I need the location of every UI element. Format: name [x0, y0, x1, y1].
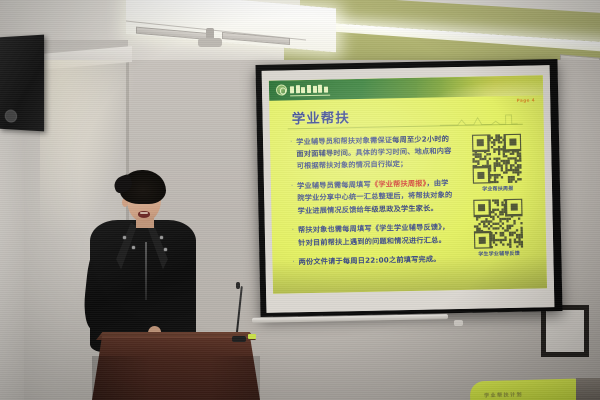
presenter-mouth	[138, 211, 150, 218]
bullet-segment: 《学业帮扶周报》	[371, 179, 427, 189]
screen-surface: Page 4 学业帮扶 ·学业辅导员和帮扶对象需保证每周至少2小时的面对面辅导时…	[262, 65, 555, 313]
slide-header-band	[269, 75, 543, 100]
jacket-stud	[123, 236, 126, 239]
logo-underline	[290, 94, 330, 96]
bullet-text: 学业辅导员需每周填写《学业帮扶周报》，由学院学业分享中心统一汇总整理后，将帮扶对…	[297, 177, 456, 217]
qr-code-label: 学生学业辅导反馈	[468, 249, 530, 257]
bullet-segment: 学业辅导员需每周填写	[297, 180, 371, 190]
wall-column	[0, 118, 24, 400]
screen-frame: Page 4 学业帮扶 ·学业辅导员和帮扶对象需保证每周至少2小时的面对面辅导时…	[256, 59, 563, 317]
slide-canvas: Page 4 学业帮扶 ·学业辅导员和帮扶对象需保证每周至少2小时的面对面辅导时…	[269, 75, 547, 293]
presentation-slide: Page 4 学业帮扶 ·学业辅导员和帮扶对象需保证每周至少2小时的面对面辅导时…	[262, 65, 555, 313]
bullet-text: 两份文件请于每周日22:00之前填写完成。	[298, 253, 440, 268]
slide-bullet: ·两份文件请于每周日22:00之前填写完成。	[293, 253, 457, 269]
screen-pull-knob	[454, 320, 463, 326]
presenter-teeth	[140, 212, 148, 214]
jacket-stud	[132, 246, 135, 249]
qr-code-icon	[472, 133, 522, 183]
floor-banner-text: 学业帮扶计划	[484, 391, 523, 399]
slide-bullet: ·帮扶对象也需每周填写《学生学业辅导反馈》，针对目前帮扶上遇到的问题和情况进行汇…	[292, 221, 457, 249]
green-marker-tape	[248, 334, 256, 339]
floor-banner: 学业帮扶计划	[470, 378, 579, 400]
bullet-text: 学业辅导员和帮扶对象需保证每周至少2小时的面对面辅导时间。具体的学习时间、地点和…	[296, 133, 455, 173]
qr-code-column: 学业帮扶周报学生学业辅导反馈	[466, 133, 531, 264]
slide-bullet: ·学业辅导员和帮扶对象需保证每周至少2小时的面对面辅导时间。具体的学习时间、地点…	[290, 133, 455, 174]
wall-speaker-icon	[0, 35, 44, 132]
bullet-segment: 帮扶对象也需每周填写《学生学业辅导反馈》，针对目前帮扶上遇到的问题和情况进行汇总…	[298, 222, 450, 246]
ceiling-projector-icon	[198, 38, 222, 47]
speaker-badge	[5, 109, 17, 122]
slide-bullet: ·学业辅导员需每周填写《学业帮扶周报》，由学院学业分享中心统一汇总整理后，将帮扶…	[291, 177, 456, 218]
presenter	[84, 170, 202, 352]
bullet-segment: 学业辅导员和帮扶对象需保证	[296, 135, 392, 146]
jacket-zipper	[145, 242, 147, 300]
microphone-head-icon	[236, 282, 240, 289]
bullet-text: 帮扶对象也需每周填写《学生学业辅导反馈》，针对目前帮扶上遇到的问题和情况进行汇总…	[298, 221, 457, 249]
floor-object	[576, 378, 600, 400]
bullet-marker: ·	[291, 180, 294, 217]
bullet-marker: ·	[290, 136, 293, 173]
jacket-stud	[164, 248, 167, 251]
bullet-segment: 。	[430, 203, 438, 212]
framed-picture	[541, 305, 589, 357]
jacket-stud	[160, 236, 163, 239]
qr-code-icon	[474, 198, 524, 248]
projection-screen: Page 4 学业帮扶 ·学业辅导员和帮扶对象需保证每周至少2小时的面对面辅导时…	[256, 59, 563, 317]
bullet-segment: 年级思政及学生家长	[364, 203, 431, 213]
bullet-marker: ·	[293, 256, 295, 268]
microphone-base	[232, 336, 246, 342]
wordmark	[290, 85, 328, 94]
lectern-shading	[92, 356, 260, 400]
lecture-room-photo: Page 4 学业帮扶 ·学业辅导员和帮扶对象需保证每周至少2小时的面对面辅导时…	[0, 0, 600, 400]
slide-title: 学业帮扶	[292, 106, 350, 127]
slide-page-number: Page 4	[517, 97, 536, 102]
bullet-segment: 两份文件请于每周日22:00之前填写完成。	[298, 254, 440, 266]
slide-bullet-list: ·学业辅导员和帮扶对象需保证每周至少2小时的面对面辅导时间。具体的学习时间、地点…	[290, 133, 457, 276]
bullet-marker: ·	[292, 224, 294, 249]
skyline-decoration	[439, 112, 517, 126]
qr-code-label: 学业帮扶周报	[467, 184, 529, 192]
header-swoosh-decoration	[417, 75, 543, 98]
seal-icon	[276, 84, 287, 95]
